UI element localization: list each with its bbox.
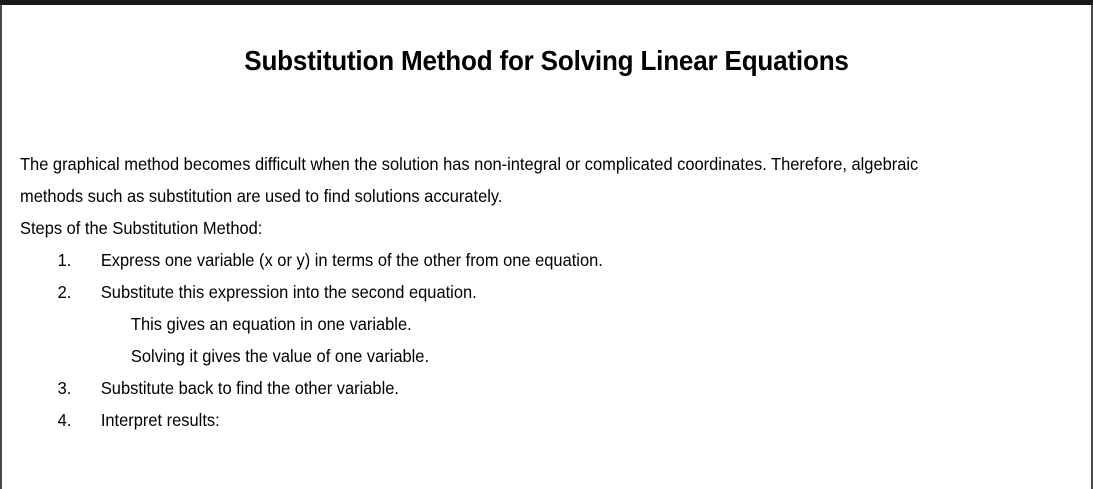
list-item-label: Express one variable (x or y) in terms o… — [101, 250, 603, 270]
intro-paragraph-line-2: methods such as substitution are used to… — [20, 180, 1059, 212]
list-item-marker: 3. — [58, 372, 86, 404]
list-item-label: Substitute this expression into the seco… — [101, 282, 477, 302]
intro-paragraph: The graphical method becomes difficult w… — [20, 148, 1059, 212]
document-page: Substitution Method for Solving Linear E… — [0, 0, 1093, 489]
list-item-label: Interpret results: — [101, 410, 220, 430]
document-body: The graphical method becomes difficult w… — [20, 148, 1060, 436]
sub-list-item: This gives an equation in one variable. — [20, 308, 1093, 340]
sub-list-item: Solving it gives the value of one variab… — [20, 340, 1093, 372]
list-item: 1. Express one variable (x or y) in term… — [20, 244, 1093, 276]
steps-list: 1. Express one variable (x or y) in term… — [20, 244, 1060, 436]
list-item-marker: 2. — [58, 276, 86, 308]
list-item-label: Substitute back to find the other variab… — [101, 378, 399, 398]
list-item: 3. Substitute back to find the other var… — [20, 372, 1093, 404]
page-title: Substitution Method for Solving Linear E… — [40, 45, 1053, 77]
document-content: Substitution Method for Solving Linear E… — [2, 5, 1091, 489]
list-item: 2. Substitute this expression into the s… — [20, 276, 1093, 308]
list-item: 4. Interpret results: — [20, 404, 1093, 436]
list-item-marker: 1. — [58, 244, 86, 276]
steps-heading: Steps of the Substitution Method: — [20, 212, 1059, 244]
intro-paragraph-line-1: The graphical method becomes difficult w… — [20, 148, 1059, 180]
list-item-marker: 4. — [58, 404, 86, 436]
